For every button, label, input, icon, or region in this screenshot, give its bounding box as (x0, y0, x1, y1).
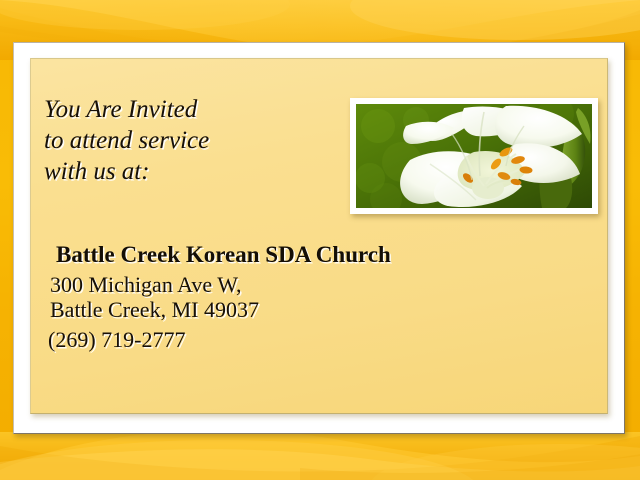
address-lines: 300 Michigan Ave W, Battle Creek, MI 490… (50, 272, 259, 322)
lily-photo-frame (350, 98, 598, 214)
organization-name: Battle Creek Korean SDA Church (56, 241, 391, 268)
invitation-headline: You Are Invited to attend service with u… (44, 94, 344, 187)
lily-photo-artwork (356, 104, 592, 208)
invitation-slide: You Are Invited to attend service with u… (0, 0, 640, 480)
lily-photo (356, 104, 592, 208)
phone-number: (269) 719-2777 (48, 327, 185, 353)
